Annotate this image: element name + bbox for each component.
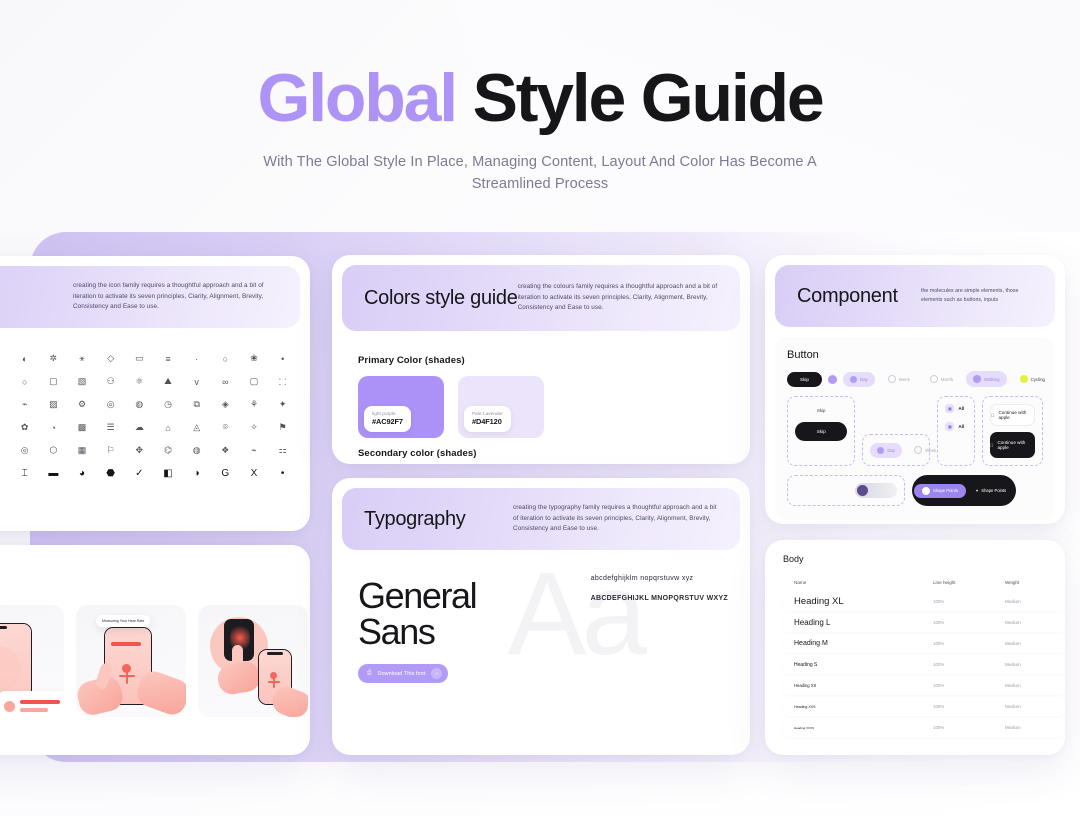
day-label-2: Day [887,448,895,453]
body-table-rows: Heading XL100%MediumHeading L100%MediumH… [783,592,1065,737]
page-header: Global Style Guide With The Global Style… [0,0,1080,195]
day-chip-2[interactable]: Day [870,443,902,458]
status-dot [4,701,15,712]
icon-cell[interactable]: ◑ [183,463,210,484]
week-chip[interactable]: Week [881,371,917,387]
illustration-style-card: tion Measuring Your Hear Rate [0,545,310,755]
row-name: Heading XS [783,683,933,688]
cycling-chip[interactable]: Cycling [1013,371,1052,387]
component-card-description: the molecules are simple elements, those… [921,287,1033,305]
icon-cell[interactable]: v [183,371,210,392]
icon-cell[interactable]: ⌾ [212,417,239,438]
swatch-name: light purple [372,411,403,416]
row-weight: Medium [1005,620,1065,625]
icon-cell[interactable]: ▶ [0,463,9,484]
icon-cell[interactable]: ◐ [11,348,38,369]
phone-notch [0,626,7,629]
continue-with-apple-dark-button[interactable]: Continue with apple [990,432,1035,458]
col-line-height: Line height [933,580,1005,585]
icon-cell[interactable]: ⌁ [11,394,38,415]
secondary-color-label: Secondary color (shades) [332,438,750,459]
typography-body: Aa General Sans ⎙ Download This font › a… [332,560,750,755]
day-label: Day [860,377,868,382]
download-icon: ⎙ [367,670,371,677]
shape-points-label-2: Shape Points [981,488,1006,493]
font-name-line2: Sans [358,611,434,652]
illustration-row: Measuring Your Hear Rate [0,591,310,717]
component-card-header: Component the molecules are simple eleme… [775,265,1055,327]
toggle-row: Shape Points ⌖Shape Points [787,475,1043,506]
alphabet-uppercase: ABCDEFGHIJKL MNOPQRSTUV WXYZ [591,594,728,605]
toggle-knob [857,485,868,496]
table-row: Heading XS100%Medium [783,676,1065,695]
avatar-dot-icon[interactable] [828,375,837,384]
icon-cell[interactable]: ▢ [40,371,67,392]
shape-points-segmented-control[interactable]: Shape Points ⌖Shape Points [912,475,1016,506]
page-title-accent: Global [258,60,456,136]
row-line-height: 100% [933,620,1005,625]
week-label-2: Week [925,448,936,453]
typography-card-header: Typography creating the typography famil… [342,488,740,550]
table-row: Heading M100%Medium [783,634,1065,653]
progress-bar [111,642,141,646]
icon-cell[interactable]: ○ [212,348,239,369]
shape-alt-icon: ⌖ [976,488,978,493]
icon-cell[interactable]: ◔ [40,417,67,438]
cycling-label: Cycling [1031,377,1045,382]
icon-cell[interactable]: ⌶ [11,463,38,484]
icon-cell[interactable]: ◧ [155,463,182,484]
body-table: Name Line height Weight Heading XL100%Me… [783,574,1065,737]
download-font-button[interactable]: ⎙ Download This font › [358,664,448,683]
button-section: Button Skip Day Week Month Walking Cycli… [775,337,1055,520]
skip-variants-box: Skip Skip [787,396,855,466]
icon-cell[interactable]: ⌂ [155,417,182,438]
font-name-line1: General [358,575,476,616]
colors-card-title: Colors style guide [364,287,518,310]
icon-cell[interactable]: ◷ [155,394,182,415]
icon-cell[interactable]: ◍ [183,440,210,461]
body-typography-card: Body Name Line height Weight Heading XL1… [765,540,1065,755]
day-chip[interactable]: Day [843,372,875,387]
swatch-chip: Pale Lavender #D4F120 [464,406,511,432]
row-name: Heading L [783,618,933,627]
col-name: Name [783,580,933,585]
icon-cell[interactable]: ⧉ [183,394,210,415]
icon-cell[interactable]: ⚏ [269,440,296,461]
icon-cell[interactable]: ⸬ [269,371,296,392]
row-line-height: 100% [933,599,1005,604]
typography-card-description: creating the typography family requires … [513,503,718,535]
icon-cell[interactable]: ▨ [40,394,67,415]
apple-icon:  [990,443,993,448]
apple-label-light: Continue with apple [998,410,1034,420]
icon-cell[interactable]: ⚛ [126,371,153,392]
button-variants-row: Skip Skip Day Week ▣All ▣All Continue w… [787,396,1043,466]
icon-cell[interactable]: ◐ [0,440,9,461]
row-line-height: 100% [933,683,1005,688]
continue-with-apple-light-button[interactable]: Continue with apple [990,404,1035,426]
pill-button-row: Skip Day Week Month Walking Cycling Stre… [787,371,1043,387]
phone-notch [267,652,283,655]
icon-cell[interactable]: ▢ [241,371,268,392]
day-dot-icon [850,376,857,383]
icon-cell[interactable]: ✦ [269,394,296,415]
icon-cell[interactable]: ☁ [126,417,153,438]
icon-cell[interactable]: G [212,463,239,484]
icon-grid: ⚴◌◐✲⚹◇▭≡·○❀•›▤○▢▧⚇⚛⛰v∞▢⸬▭↔⌁▨⚙◎◍◷⧉◈⚘✦◉❦✿◔… [0,338,310,484]
alphabet-lowercase: abcdefghijklm nopqrstuvw xyz [591,575,694,582]
col-weight: Weight [1005,580,1065,585]
skip-button[interactable]: Skip [787,372,822,387]
icon-cell[interactable]: ◕ [69,463,96,484]
icon-cell[interactable]: ⚇ [97,371,124,392]
icon-cell[interactable]: ↔ [0,394,9,415]
row-weight: Medium [1005,725,1065,730]
month-dot-icon [930,375,938,383]
icon-cell[interactable]: ◈ [212,394,239,415]
icon-cell[interactable]: ∞ [212,371,239,392]
row-name: Heading XXXS [783,726,933,730]
icon-cell[interactable]: ▧ [69,371,96,392]
icon-cell[interactable]: ▩ [69,417,96,438]
row-weight: Medium [1005,641,1065,646]
color-swatch[interactable]: light purple #AC92F7 [358,376,444,438]
day-week-box: Day Week [862,434,930,466]
row-line-height: 100% [933,641,1005,646]
bar-line-2 [20,708,48,712]
month-label: Month [941,377,953,382]
download-font-label: Download This font [377,671,425,677]
table-row: Heading S100%Medium [783,655,1065,674]
illustration-card-title: tion [0,545,310,591]
button-section-title: Button [787,349,1043,361]
icon-cell[interactable]: ○ [11,371,38,392]
toggle-switch[interactable] [855,483,897,498]
month-chip[interactable]: Month [923,371,960,387]
icon-cell[interactable]: ◌ [0,348,9,369]
icon-cell[interactable]: ◎ [97,394,124,415]
icon-cell[interactable]: ❦ [0,417,9,438]
icon-cell[interactable]: ✲ [40,348,67,369]
icon-cell[interactable]: • [269,463,296,484]
icon-cell[interactable]: ✧ [241,417,268,438]
shape-points-segment-active[interactable]: Shape Points [914,484,966,498]
alphabet-specimen: abcdefghijklm nopqrstuvw xyz ABCDEFGHIJK… [591,574,728,605]
apple-icon:  [991,413,994,418]
table-row: Heading XXS100%Medium [783,697,1065,716]
body-card-title: Body [783,554,1065,564]
icon-cell[interactable]: ☰ [97,417,124,438]
apple-label-dark: Continue with apple [997,440,1035,450]
icon-cell[interactable]: ⚙ [69,394,96,415]
shape-icon [922,487,930,495]
illustration-info-panel [0,691,64,717]
day-dot-icon [877,447,884,454]
week-dot-icon [888,375,896,383]
icon-cell[interactable]: ✥ [126,440,153,461]
primary-swatch-row: light purple #AC92F7 Pale Lavender #D4F1… [332,366,750,438]
icon-cell[interactable]: ⚘ [241,394,268,415]
page-title: Global Style Guide [0,0,1080,134]
measuring-tooltip: Measuring Your Hear Rate [96,615,150,627]
page-subtitle: With The Global Style In Place, Managing… [260,152,820,194]
chevron-right-icon: › [431,668,442,679]
icon-cell[interactable]: ⌁ [241,440,268,461]
icon-cell[interactable]: ≡ [155,348,182,369]
row-name: Heading M [783,640,933,647]
icon-cell[interactable]: ◎ [11,440,38,461]
illustration-tile-3 [198,605,308,717]
table-row: Heading XL100%Medium [783,592,1065,611]
illustration-tile-1 [0,605,64,717]
icon-cell[interactable]: ⌬ [155,440,182,461]
icon-cell[interactable]: · [183,348,210,369]
checkbox-icon: ▣ [945,422,954,431]
color-swatch[interactable]: Pale Lavender #D4F120 [458,376,544,438]
swatch-chip: light purple #AC92F7 [364,406,411,432]
row-weight: Medium [1005,683,1065,688]
table-header-row: Name Line height Weight [783,574,1065,590]
typography-style-card: Typography creating the typography famil… [332,478,750,755]
colors-card-header: Colors style guide creating the colours … [342,265,740,331]
shape-points-segment-inactive[interactable]: ⌖Shape Points [968,485,1014,496]
icon-cell[interactable]: ▬ [40,463,67,484]
skip-ghost-label[interactable]: Skip [795,404,847,422]
icon-cell[interactable]: ⬣ [97,463,124,484]
walking-icon [973,375,981,383]
all-checkbox-row-2[interactable]: ▣All [945,422,967,431]
row-name: Heading XXS [783,705,933,709]
row-line-height: 100% [933,725,1005,730]
cycling-icon [1020,375,1028,383]
shape-points-label-1: Shape Points [933,488,958,493]
icons-card-description: creating the icon family requires a thou… [73,281,278,313]
walking-label: Walking [984,377,999,382]
row-name: Heading XL [783,596,933,607]
icon-cell[interactable]: ✿ [11,417,38,438]
all-label-2: All [958,424,964,429]
strength-chip[interactable]: Strength [1058,371,1065,387]
row-name: Heading S [783,662,933,668]
body-card-inner: Body Name Line height Weight Heading XL1… [765,540,1065,737]
all-checkbox-row-1[interactable]: ▣All [945,404,967,413]
bar-line-1 [20,700,60,704]
swatch-hex: #AC92F7 [372,417,403,426]
primary-color-label: Primary Color (shades) [332,341,750,366]
icon-cell[interactable]: ⚹ [69,348,96,369]
toggle-box [787,475,905,506]
swatch-name: Pale Lavender [472,411,503,416]
icon-cell[interactable]: ◍ [126,394,153,415]
icon-cell[interactable]: ⚑ [269,417,296,438]
row-weight: Medium [1005,704,1065,709]
icon-cell[interactable]: ⛰ [155,371,182,392]
cross-horizontal [119,675,135,677]
icon-cell[interactable]: ⬡ [40,440,67,461]
icons-style-card: creating the icon family requires a thou… [0,256,310,531]
colors-card-description: creating the colours family requires a t… [518,282,718,314]
table-row: Heading L100%Medium [783,613,1065,632]
colors-style-card: Colors style guide creating the colours … [332,255,750,464]
icons-card-header: creating the icon family requires a thou… [0,266,300,328]
row-weight: Medium [1005,599,1065,604]
week-label: Week [899,377,910,382]
icon-cell[interactable]: ▭ [126,348,153,369]
row-weight: Medium [1005,662,1065,667]
page-title-rest: Style Guide [456,60,823,136]
row-line-height: 100% [933,662,1005,667]
checkbox-icon: ▣ [945,404,954,413]
icon-cell[interactable]: ◬ [183,417,210,438]
icon-cell[interactable]: ▦ [69,440,96,461]
icon-cell[interactable]: ❖ [212,440,239,461]
component-style-card: Component the molecules are simple eleme… [765,255,1065,524]
icon-cell[interactable]: X [241,463,268,484]
all-checkbox-box: ▣All ▣All [937,396,975,466]
typography-card-title: Typography [364,508,466,531]
week-dot-icon [914,446,922,454]
row-line-height: 100% [933,704,1005,709]
apple-buttons-box: Continue with apple Continue with appl… [982,396,1043,466]
icon-cell[interactable]: ◇ [97,348,124,369]
illustration-tile-2: Measuring Your Hear Rate [76,605,186,717]
icon-cell[interactable]: ❀ [241,348,268,369]
all-label-1: All [958,406,964,411]
icon-cell[interactable]: • [269,348,296,369]
swatch-hex: #D4F120 [472,417,503,426]
icon-cell[interactable]: ▤ [0,371,9,392]
skip-dark-button[interactable]: Skip [795,422,847,441]
icon-cell[interactable]: ⚐ [97,440,124,461]
cross-horizontal [268,681,280,683]
icon-cell[interactable]: ✓ [126,463,153,484]
walking-chip[interactable]: Walking [966,371,1006,387]
table-row: Heading XXXS100%Medium [783,718,1065,737]
component-card-title: Component [797,285,898,308]
